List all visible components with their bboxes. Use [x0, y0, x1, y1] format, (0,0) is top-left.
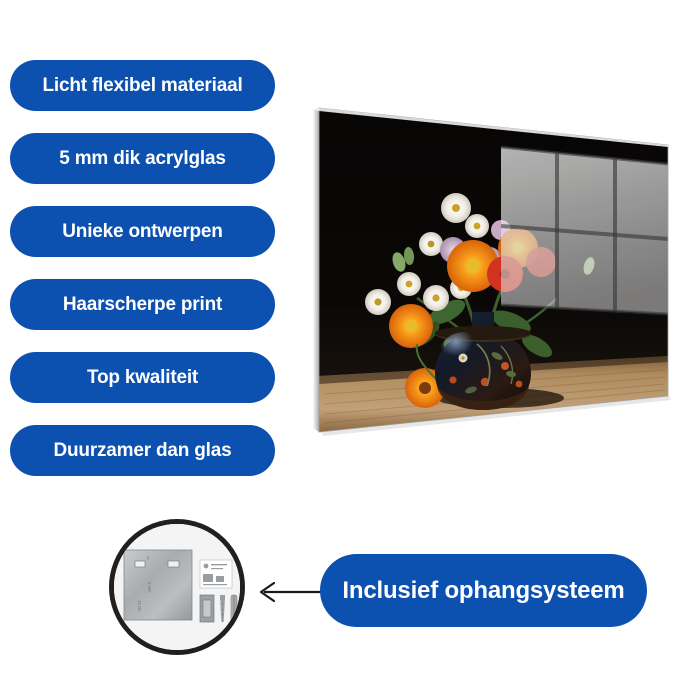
leader-arrow-svg [252, 578, 330, 606]
feature-badge-label: Unieke ontwerpen [62, 222, 222, 241]
feature-badge-label: Licht flexibel materiaal [42, 76, 242, 95]
acrylic-panel-svg [305, 98, 675, 443]
hanging-kit-photo: 5 mm 15 cm [109, 519, 245, 655]
aluminium-mounting-plate: 5 mm 15 cm [124, 550, 192, 620]
acrylic-edge-thickness [313, 108, 319, 432]
feature-badge-unieke-ontwerpen[interactable]: Unieke ontwerpen [10, 206, 275, 257]
hanging-kit-svg: 5 mm 15 cm [109, 519, 245, 655]
instruction-leaflet [200, 560, 232, 588]
callout-leader-arrow [252, 578, 330, 606]
acrylic-panel-product-image[interactable] [305, 98, 675, 443]
feature-badge-top-kwaliteit[interactable]: Top kwaliteit [10, 352, 275, 403]
feature-badge-licht-flexibel-materiaal[interactable]: Licht flexibel materiaal [10, 60, 275, 111]
svg-text:15 cm: 15 cm [137, 600, 142, 612]
feature-badge-label: Duurzamer dan glas [53, 441, 231, 460]
callout-badge-label: Inclusief ophangsysteem [342, 579, 624, 603]
feature-badge-duurzamer-dan-glas[interactable]: Duurzamer dan glas [10, 425, 275, 476]
feature-badge-label: 5 mm dik acrylglas [59, 149, 225, 168]
hanging-kit-inset-circle[interactable]: 5 mm 15 cm [109, 519, 245, 655]
artwork-face [319, 108, 668, 432]
feature-badge-label: Haarscherpe print [63, 295, 222, 314]
window-reflection [501, 147, 668, 314]
feature-badge-label: Top kwaliteit [87, 368, 198, 387]
svg-text:5 mm: 5 mm [147, 582, 152, 593]
product-feature-sheet: Licht flexibel materiaal 5 mm dik acrylg… [0, 0, 700, 700]
feature-badge-5-mm-dik-acrylglas[interactable]: 5 mm dik acrylglas [10, 133, 275, 184]
callout-badge-inclusief-ophangsysteem[interactable]: Inclusief ophangsysteem [320, 554, 647, 627]
feature-badge-haarscherpe-print[interactable]: Haarscherpe print [10, 279, 275, 330]
